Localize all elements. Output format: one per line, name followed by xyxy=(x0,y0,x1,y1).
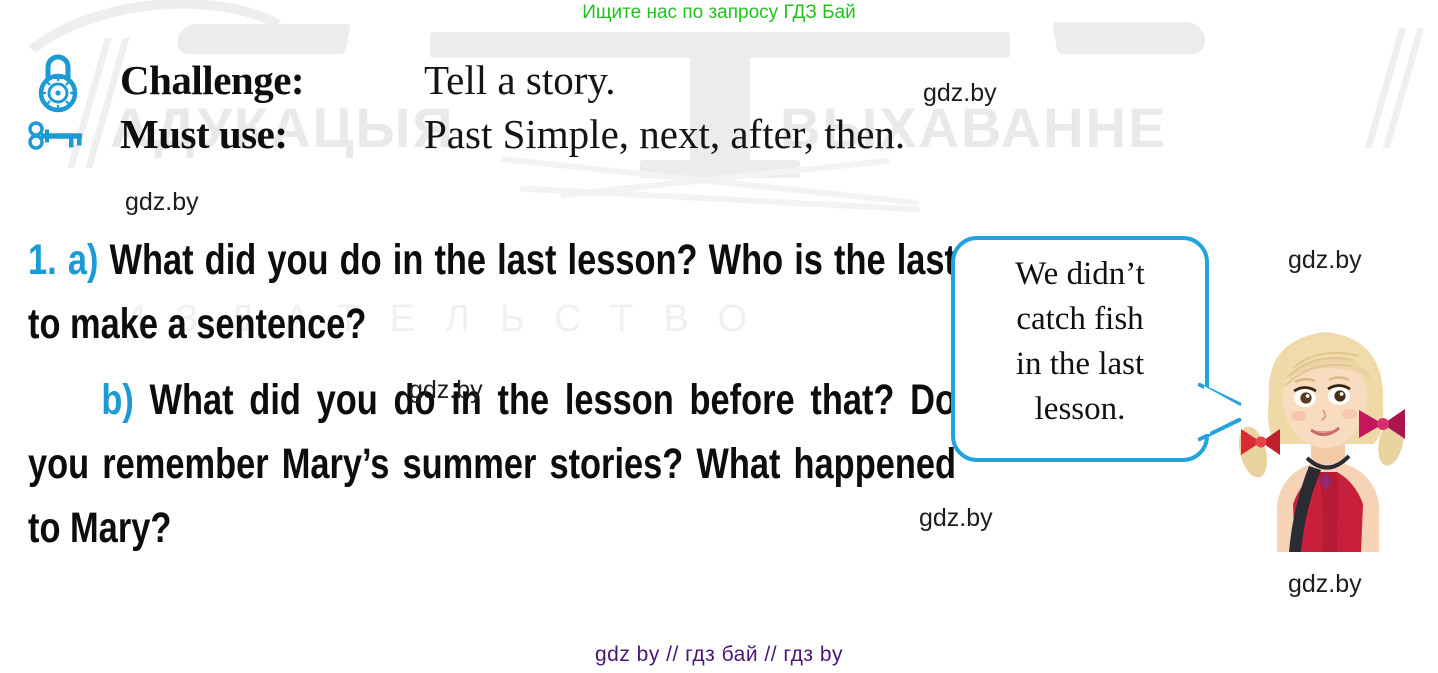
key-icon xyxy=(24,116,92,156)
speech-bubble-tail xyxy=(1204,386,1244,430)
speech-bubble-text: We didn’t catch fish in the last lesson. xyxy=(955,240,1205,432)
speech-bubble-tail-mask xyxy=(1200,390,1210,434)
exercise-part-b-marker: b) xyxy=(101,376,133,424)
gdz-watermark: gdz.by xyxy=(1288,246,1362,275)
exercise-part-b-text: What did you do in the lesson before tha… xyxy=(28,376,956,552)
gdz-watermark: gdz.by xyxy=(919,504,993,533)
exercise-part-b: b) What did you do in the lesson before … xyxy=(28,368,956,560)
gdz-watermark: gdz.by xyxy=(409,376,483,405)
challenge-block: Challenge: Tell a story. Must use: Past … xyxy=(0,48,1438,172)
exercise-part-a-text: What did you do in the last lesson? Who … xyxy=(28,236,956,348)
challenge-label: Challenge: xyxy=(120,56,304,104)
gdz-watermark: gdz.by xyxy=(1288,570,1362,599)
top-banner: Ищите нас по запросу ГДЗ Бай xyxy=(0,2,1438,24)
blonde-girl-illustration xyxy=(1233,306,1419,552)
speech-bubble: We didn’t catch fish in the last lesson. xyxy=(951,236,1209,462)
footer-text: gdz by // гдз бай // гдз by xyxy=(595,643,843,666)
exercise-part-a-marker: a) xyxy=(68,236,99,284)
combination-padlock-icon xyxy=(30,52,86,114)
challenge-value: Tell a story. xyxy=(424,56,615,104)
challenge-row: Challenge: Tell a story. xyxy=(0,48,1438,110)
must-use-label: Must use: xyxy=(120,110,287,158)
exercise-part-a: 1. a) What did you do in the last lesson… xyxy=(28,228,956,356)
gdz-watermark: gdz.by xyxy=(125,188,199,217)
watermark-ray-2 xyxy=(520,186,920,213)
top-banner-text: Ищите нас по запросу ГДЗ Бай xyxy=(582,2,855,23)
exercise-1: 1. a) What did you do in the last lesson… xyxy=(28,228,1028,560)
must-use-value: Past Simple, next, after, then. xyxy=(424,110,905,158)
exercise-number: 1. xyxy=(28,236,57,284)
must-use-row: Must use: Past Simple, next, after, then… xyxy=(0,110,1438,172)
gdz-watermark: gdz.by xyxy=(923,79,997,108)
footer: gdz by // гдз бай // гдз by xyxy=(0,643,1438,667)
